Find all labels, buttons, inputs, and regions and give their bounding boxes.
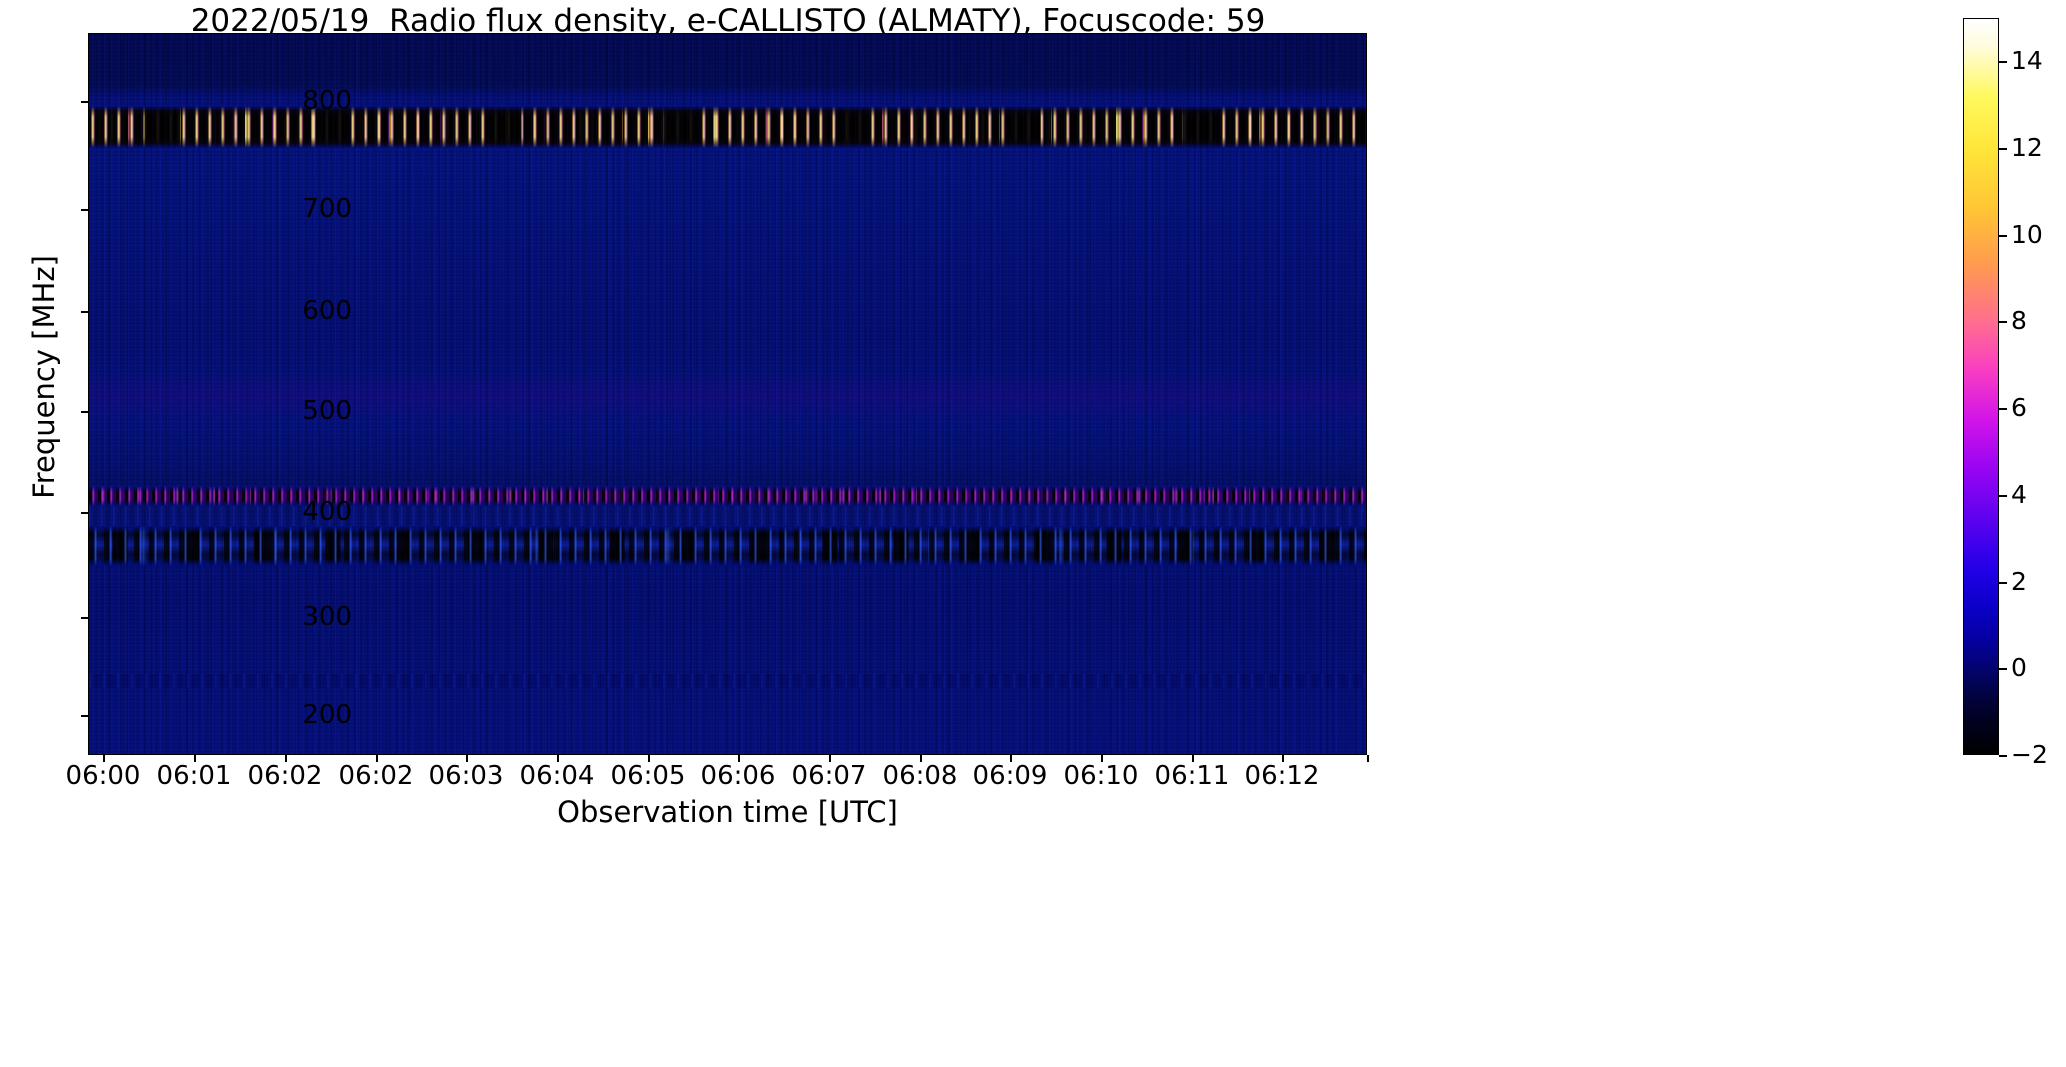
- colorbar-tick-label: 4: [2011, 482, 2027, 507]
- y-tick-label: 200: [232, 702, 352, 728]
- y-tick-label: 600: [232, 298, 352, 324]
- colorbar-tick-mark: [1999, 148, 2007, 150]
- spectrogram-band-400mhz: [89, 526, 1366, 566]
- colorbar-tick-mark: [1999, 61, 2007, 63]
- x-axis-title: Observation time [UTC]: [88, 795, 1367, 829]
- spectrogram-faint-band-250mhz: [89, 674, 1366, 688]
- x-tick-mark: [1367, 755, 1369, 762]
- y-tick-mark: [81, 715, 88, 717]
- colorbar-tick-label: 10: [2011, 222, 2043, 247]
- colorbar-tick-mark: [1999, 755, 2007, 757]
- colorbar-tick-label: −2: [2011, 742, 2048, 767]
- y-axis-title: Frequency [MHz]: [27, 0, 61, 757]
- y-tick-label: 800: [232, 88, 352, 114]
- colorbar-tick-label: 6: [2011, 395, 2027, 420]
- colorbar-tick-mark: [1999, 321, 2007, 323]
- x-tick-label: 06:12: [1202, 763, 1362, 789]
- colorbar-tick-mark: [1999, 582, 2007, 584]
- y-tick-mark: [81, 209, 88, 211]
- colorbar-tick-label: 0: [2011, 655, 2027, 680]
- colorbar-tick-label: 8: [2011, 308, 2027, 333]
- band-400mhz-edge-fade: [89, 526, 1366, 566]
- colorbar-tick-mark: [1999, 408, 2007, 410]
- y-tick-label: 400: [232, 499, 352, 525]
- colorbar-tick-mark: [1999, 495, 2007, 497]
- y-tick-mark: [81, 617, 88, 619]
- spectrogram-plot-area: [88, 33, 1367, 755]
- y-tick-label: 700: [232, 196, 352, 222]
- y-tick-label: 300: [232, 604, 352, 630]
- figure-canvas: 2022/05/19 Radio flux density, e-CALLIST…: [0, 0, 2066, 1067]
- colorbar-gradient: [1963, 18, 1999, 755]
- colorbar-tick-label: 2: [2011, 569, 2027, 594]
- y-tick-mark: [81, 411, 88, 413]
- y-tick-mark: [81, 101, 88, 103]
- colorbar-tick-mark: [1999, 235, 2007, 237]
- colorbar-tick-mark: [1999, 668, 2007, 670]
- y-tick-mark: [81, 512, 88, 514]
- y-tick-label: 500: [232, 398, 352, 424]
- colorbar-tick-label: 14: [2011, 48, 2043, 73]
- colorbar-tick-label: 12: [2011, 135, 2043, 160]
- y-tick-mark: [81, 311, 88, 313]
